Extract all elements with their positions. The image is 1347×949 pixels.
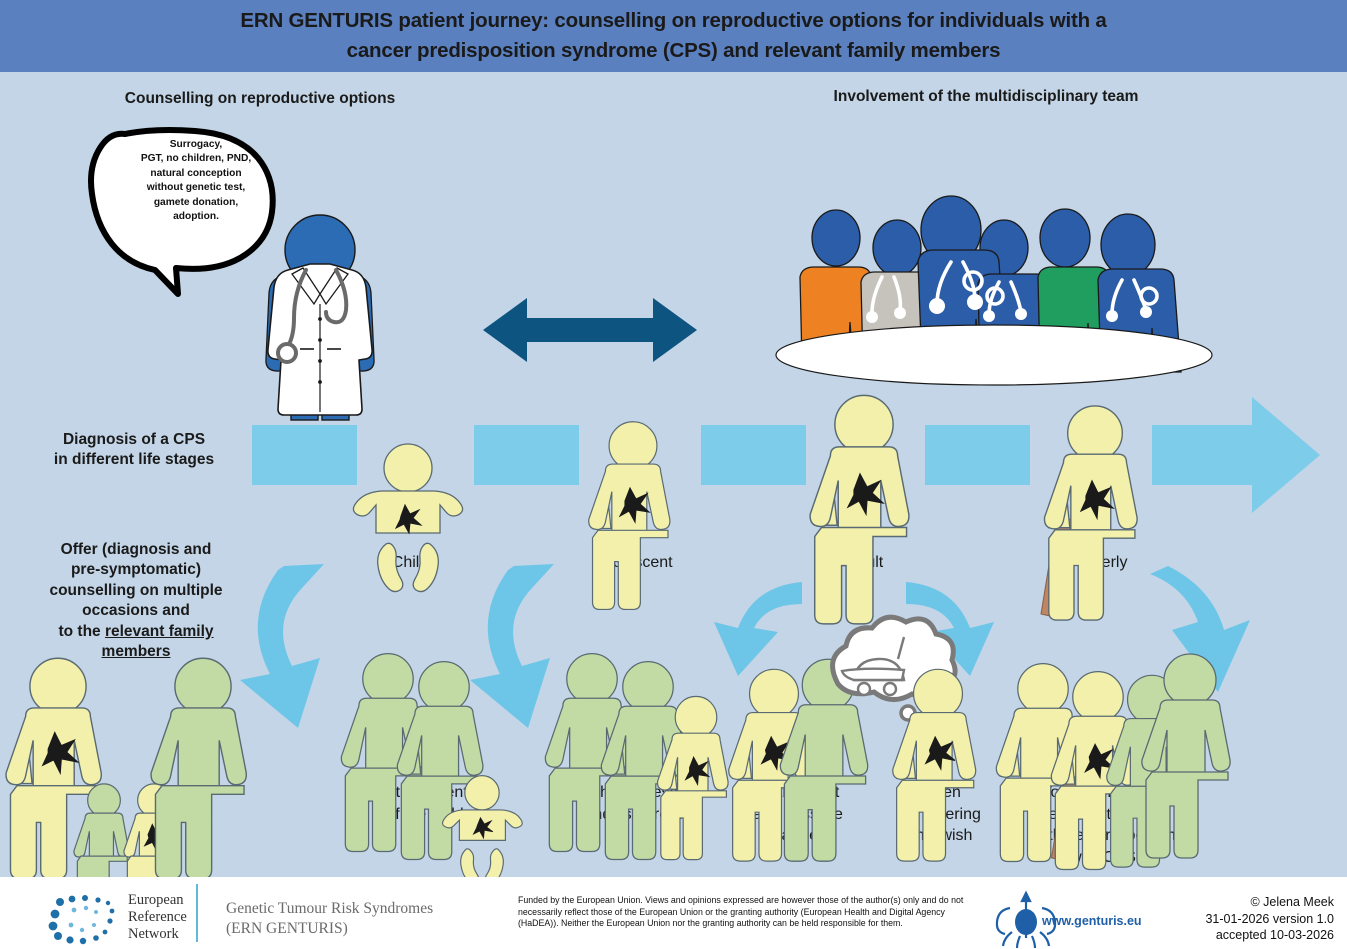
bidirectional-arrow-icon <box>483 298 697 362</box>
band-block-4 <box>925 425 1030 485</box>
footer-version: 31-01-2026 version 1.0 <box>1148 911 1334 928</box>
bubble-line-1: Surrogacy, <box>120 138 272 152</box>
curved-arrow-3 <box>714 582 802 676</box>
family-group-reference <box>6 658 246 909</box>
page-title-line2: cancer predisposition syndrome (CPS) and… <box>94 36 1254 66</box>
bubble-line-4: without genetic test, <box>120 181 272 195</box>
figure-elderly <box>1041 406 1137 620</box>
infographic-root: ERN GENTURIS patient journey: counsellin… <box>0 0 1347 949</box>
gtrs-line2: (ERN GENTURIS) <box>226 919 506 939</box>
page-title-line1: ERN GENTURIS patient journey: counsellin… <box>94 6 1254 36</box>
curved-arrow-1 <box>240 564 324 728</box>
bubble-line-2: PGT, no children, PND, <box>120 152 272 166</box>
diagram-canvas: Counselling on reproductive options Invo… <box>0 72 1347 877</box>
band-block-2 <box>474 425 579 485</box>
family-group-children-of-elderly <box>996 654 1230 870</box>
speech-bubble-text: Surrogacy, PGT, no children, PND, natura… <box>120 138 272 225</box>
mdt-team <box>776 196 1212 385</box>
bubble-line-3: natural conception <box>120 167 272 181</box>
footer-funding-disclaimer: Funded by the European Union. Views and … <box>518 895 964 930</box>
bubble-line-6: adoption. <box>120 210 272 224</box>
header-band: ERN GENTURIS patient journey: counsellin… <box>0 0 1347 72</box>
doctor-figure <box>266 215 374 420</box>
bubble-line-5: gamete donation, <box>120 196 272 210</box>
figure-adult <box>810 395 909 623</box>
footer-accepted-date: accepted 10-03-2026 <box>1148 927 1334 944</box>
family-group-adolescent-and-parents <box>545 654 728 860</box>
figure-child <box>353 444 462 592</box>
footer-gtrs-title: Genetic Tumour Risk Syndromes (ERN GENTU… <box>226 899 506 938</box>
meeting-table <box>776 325 1212 385</box>
footer-website-link[interactable]: www.genturis.eu <box>1042 914 1142 928</box>
band-arrow-right <box>1152 397 1320 513</box>
footer-copyright: © Jelena Meek <box>1148 894 1334 911</box>
footer-credits: © Jelena Meek 31-01-2026 version 1.0 acc… <box>1148 894 1334 944</box>
page-title: ERN GENTURIS patient journey: counsellin… <box>94 6 1254 65</box>
band-block-1 <box>252 425 357 485</box>
band-block-3 <box>701 425 806 485</box>
gtrs-line1: Genetic Tumour Risk Syndromes <box>226 899 506 919</box>
curved-arrow-2 <box>470 564 554 728</box>
figure-adolescent <box>589 422 670 610</box>
